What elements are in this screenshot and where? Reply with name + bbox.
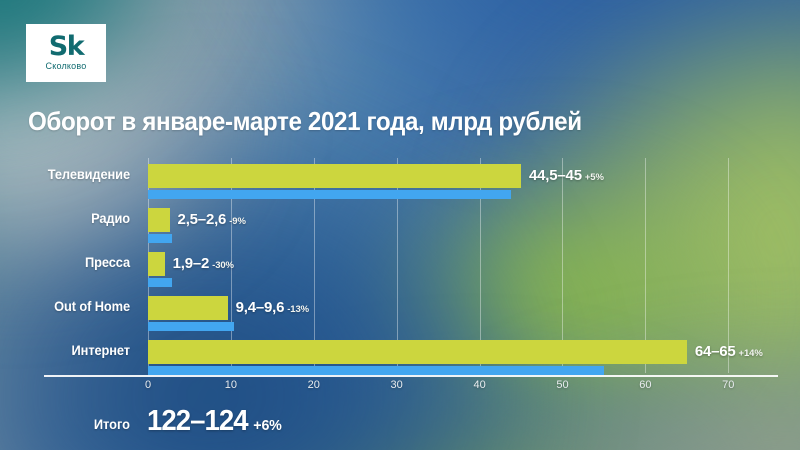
chart-row: Интернет64–65+14% — [0, 334, 800, 375]
value-label: 1,9–2 — [173, 255, 210, 272]
x-tick-label: 40 — [473, 379, 485, 391]
chart-row: Радио2,5–2,6-9% — [0, 202, 800, 243]
bar-current-3 — [148, 252, 165, 276]
bar-group: 1,9–2-30% — [148, 252, 800, 288]
bar-group: 64–65+14% — [148, 340, 800, 376]
bar-current-4 — [148, 296, 228, 320]
delta-label: -13% — [287, 304, 309, 315]
bar-current-5 — [148, 340, 687, 364]
x-tick-label: 0 — [145, 379, 151, 391]
value-annotation: 9,4–9,6-13% — [236, 299, 309, 319]
x-tick-label: 10 — [225, 379, 237, 391]
logo-mark: Sk — [49, 34, 84, 60]
bar-previous-1 — [148, 190, 511, 199]
delta-label: -30% — [212, 260, 234, 271]
bar-group: 44,5–45+5% — [148, 164, 800, 200]
chart-row: Телевидение44,5–45+5% — [0, 158, 800, 199]
bar-group: 9,4–9,6-13% — [148, 296, 800, 332]
chart-row: Out of Home9,4–9,6-13% — [0, 290, 800, 331]
value-annotation: 1,9–2-30% — [173, 255, 234, 275]
infographic-slide: Sk Сколково Оборот в январе-марте 2021 г… — [0, 0, 800, 450]
value-annotation: 64–65+14% — [695, 343, 763, 363]
bar-previous-3 — [148, 278, 172, 287]
category-label-2: Радио — [7, 211, 131, 226]
x-tick-label: 70 — [722, 379, 734, 391]
delta-label: +5% — [585, 172, 604, 183]
page-title: Оборот в январе-марте 2021 года, млрд ру… — [28, 106, 582, 137]
value-label: 9,4–9,6 — [236, 299, 285, 316]
x-tick-label: 50 — [556, 379, 568, 391]
skolkovo-logo: Sk Сколково — [26, 24, 106, 82]
bar-current-1 — [148, 164, 521, 188]
chart-row: Пресса1,9–2-30% — [0, 246, 800, 287]
bar-chart: Телевидение44,5–45+5%Радио2,5–2,6-9%Прес… — [0, 158, 800, 380]
total-label: Итого — [7, 417, 131, 432]
logo-wordmark: Сколково — [46, 61, 87, 72]
value-label: 2,5–2,6 — [178, 211, 227, 228]
bar-previous-5 — [148, 366, 604, 375]
value-annotation: 2,5–2,6-9% — [178, 211, 246, 231]
x-axis-line — [44, 375, 778, 377]
value-annotation: 44,5–45+5% — [529, 167, 604, 187]
category-label-1: Телевидение — [7, 167, 131, 182]
category-label-5: Интернет — [7, 343, 131, 358]
total-value: 122–124+6% — [147, 405, 282, 438]
x-tick-label: 60 — [639, 379, 651, 391]
x-axis-ticks: 010203040506070 — [148, 379, 800, 395]
total-delta: +6% — [253, 417, 281, 434]
x-tick-label: 20 — [308, 379, 320, 391]
bar-previous-2 — [148, 234, 172, 243]
category-label-4: Out of Home — [7, 299, 131, 314]
value-label: 64–65 — [695, 343, 736, 360]
bar-current-2 — [148, 208, 170, 232]
bar-group: 2,5–2,6-9% — [148, 208, 800, 244]
bar-previous-4 — [148, 322, 234, 331]
delta-label: +14% — [739, 348, 763, 359]
total-value-number: 122–124 — [147, 405, 248, 437]
chart-rows: Телевидение44,5–45+5%Радио2,5–2,6-9%Прес… — [0, 158, 800, 378]
x-tick-label: 30 — [391, 379, 403, 391]
category-label-3: Пресса — [7, 255, 131, 270]
delta-label: -9% — [229, 216, 246, 227]
value-label: 44,5–45 — [529, 167, 582, 184]
total-row: Итого 122–124+6% — [0, 405, 800, 445]
